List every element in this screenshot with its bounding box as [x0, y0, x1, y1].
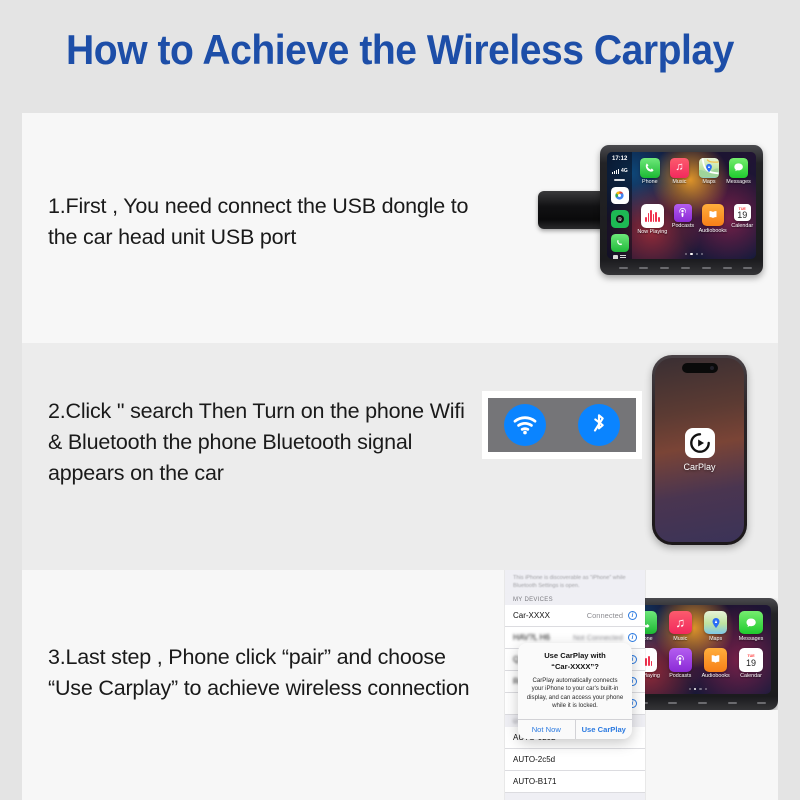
maps-icon: [699, 158, 719, 178]
device-status: Connected: [587, 611, 623, 620]
music-icon: ♫: [670, 158, 690, 178]
device-name: Car-XXXX: [513, 611, 550, 620]
step-2-text: 2.Click " search Then Turn on the phone …: [48, 396, 468, 489]
wifi-icon: [513, 415, 537, 435]
step-1-text: 1.First , You need connect the USB dongl…: [48, 191, 478, 253]
carplay-app-shortcut[interactable]: CarPlay: [683, 428, 715, 472]
messages-icon: [739, 611, 762, 634]
device-row[interactable]: Car-XXXX Connected i: [505, 605, 645, 627]
device-row[interactable]: AUTO-B171: [505, 771, 645, 793]
bluetooth-settings-screen: This iPhone is discoverable as “iPhone” …: [505, 570, 645, 800]
carplay-app-label: CarPlay: [683, 462, 715, 472]
discoverable-note: This iPhone is discoverable as “iPhone” …: [505, 570, 645, 593]
carplay-app-calendar[interactable]: TUE 19 Calendar: [731, 204, 753, 250]
bluetooth-icon: [590, 413, 608, 437]
app-label: Audiobooks: [702, 673, 730, 679]
device-name: AUTO-B171: [513, 777, 556, 786]
now-playing-icon: [641, 204, 664, 227]
app-label: Messages: [726, 179, 751, 185]
signal-icon: 4G: [612, 168, 628, 174]
car-head-unit-step1: 17:12 4G: [538, 145, 763, 275]
head-unit-body: 17:12 4G: [600, 145, 763, 275]
app-label: Now Playing: [637, 229, 667, 235]
grid-icon[interactable]: [613, 255, 626, 259]
app-label: Music: [673, 636, 687, 642]
carplay-row-2: Now Playing Podcasts: [637, 204, 751, 250]
carplay-app-music[interactable]: ♫ Music: [665, 611, 695, 648]
maps-icon: [704, 611, 727, 634]
device-name: [513, 699, 515, 708]
carplay-app-phone[interactable]: Phone: [637, 158, 662, 204]
app-label: Phone: [642, 179, 658, 185]
app-label: Music: [672, 179, 686, 185]
use-carplay-button[interactable]: Use CarPlay: [575, 720, 633, 739]
carplay-screen: 17:12 4G: [607, 152, 756, 259]
phone-icon: [640, 158, 660, 178]
my-devices-header: MY DEVICES: [505, 593, 645, 605]
calendar-icon: TUE 19: [739, 648, 762, 671]
bluetooth-toggle[interactable]: [578, 404, 620, 446]
device-status: Not Connected: [573, 633, 623, 642]
carplay-app-podcasts[interactable]: Podcasts: [672, 204, 694, 250]
carplay-app-audiobooks[interactable]: Audiobooks: [699, 204, 727, 250]
carplay-app-calendar[interactable]: TUE 19 Calendar: [736, 648, 766, 685]
app-label: Maps: [702, 179, 715, 185]
carplay-sidebar: 17:12 4G: [607, 152, 632, 259]
step-2-illustration: CarPlay: [462, 343, 778, 570]
infographic-page: How to Achieve the Wireless Carplay 1.Fi…: [0, 0, 800, 800]
carplay-app-audiobooks[interactable]: Audiobooks: [701, 648, 731, 685]
calendar-icon: TUE 19: [734, 204, 751, 221]
audiobooks-icon: [702, 204, 724, 226]
app-label: Podcasts: [672, 223, 694, 229]
device-name: HAV?L H6: [513, 633, 550, 642]
iphone-device: CarPlay: [652, 355, 747, 545]
audiobooks-icon: [704, 648, 727, 671]
control-center-toggles: [482, 391, 642, 459]
carplay-app-grid: Phone ♫ Music: [632, 152, 756, 259]
carplay-app-messages[interactable]: Messages: [736, 611, 766, 648]
page-title: How to Achieve the Wireless Carplay: [28, 26, 772, 74]
app-label: Audiobooks: [699, 228, 727, 234]
step-3-text: 3.Last step , Phone click “pair” and cho…: [48, 642, 488, 704]
page-dots[interactable]: [637, 251, 751, 256]
carplay-app-music[interactable]: ♫ Music: [667, 158, 692, 204]
podcasts-icon: [674, 204, 691, 221]
use-carplay-dialog: Use CarPlay with “Car-XXXX”? CarPlay aut…: [518, 643, 632, 739]
step-2-section: 2.Click " search Then Turn on the phone …: [22, 343, 778, 570]
step-3-section: 3.Last step , Phone click “pair” and cho…: [22, 570, 778, 800]
carplay-app-maps[interactable]: Maps: [701, 611, 731, 648]
carplay-row-1: Phone ♫ Music: [637, 158, 751, 204]
app-label: Calendar: [731, 223, 753, 229]
not-now-button[interactable]: Not Now: [518, 720, 575, 739]
battery-icon: [614, 179, 625, 181]
carplay-app-messages[interactable]: Messages: [726, 158, 751, 204]
app-label: Calendar: [740, 673, 762, 679]
device-name: AUTO-2c5d: [513, 755, 555, 764]
usb-dongle: [538, 191, 606, 229]
info-icon[interactable]: i: [628, 611, 637, 620]
dialog-title-line1: Use CarPlay with: [518, 643, 632, 661]
head-unit-hard-buttons[interactable]: [615, 262, 757, 273]
music-icon: ♫: [669, 611, 692, 634]
carplay-icon: [684, 428, 714, 458]
dynamic-island: [682, 363, 718, 373]
app-label: Maps: [709, 636, 722, 642]
carplay-app-podcasts[interactable]: Podcasts: [665, 648, 695, 685]
maps-icon[interactable]: [611, 187, 629, 205]
carplay-row-1: Phone ♫ Music: [630, 611, 766, 648]
carplay-row-2: Now Playing Podcasts: [630, 648, 766, 685]
calendar-day: 19: [737, 211, 747, 220]
iphone-screen: CarPlay: [655, 358, 744, 542]
phone-icon[interactable]: [611, 234, 629, 252]
dialog-body: CarPlay automatically connects your iPho…: [518, 673, 632, 720]
messages-icon: [729, 158, 749, 178]
page-dots[interactable]: [630, 686, 766, 691]
spotify-icon[interactable]: [611, 210, 629, 228]
podcasts-icon: [669, 648, 692, 671]
network-label: 4G: [621, 168, 628, 174]
steps-panel: 1.First , You need connect the USB dongl…: [22, 113, 778, 800]
app-label: Podcasts: [669, 673, 691, 679]
step-1-section: 1.First , You need connect the USB dongl…: [22, 113, 778, 343]
info-icon[interactable]: i: [628, 633, 637, 642]
calendar-day: 19: [746, 659, 756, 668]
device-row[interactable]: AUTO-2c5d: [505, 749, 645, 771]
carplay-app-now-playing[interactable]: Now Playing: [637, 204, 667, 250]
wifi-toggle[interactable]: [504, 404, 546, 446]
carplay-app-grid: Phone ♫ Music: [625, 605, 771, 694]
carplay-app-maps[interactable]: Maps: [696, 158, 721, 204]
step-3-illustration: 17:12 4G: [462, 570, 778, 800]
app-label: Messages: [739, 636, 764, 642]
carplay-clock: 17:12: [612, 156, 627, 164]
dialog-title-line2: “Car-XXXX”?: [518, 661, 632, 672]
